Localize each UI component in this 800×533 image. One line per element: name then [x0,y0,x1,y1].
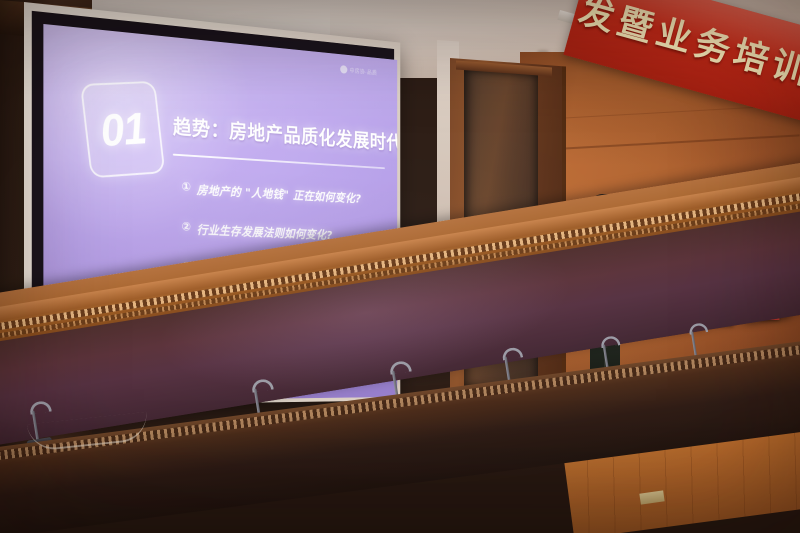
microphone-neck [691,331,697,358]
conference-photo: 发暨业务培训会 中房协·品质 01 趋势：房地产品质化发展时代的到来 [0,0,800,533]
